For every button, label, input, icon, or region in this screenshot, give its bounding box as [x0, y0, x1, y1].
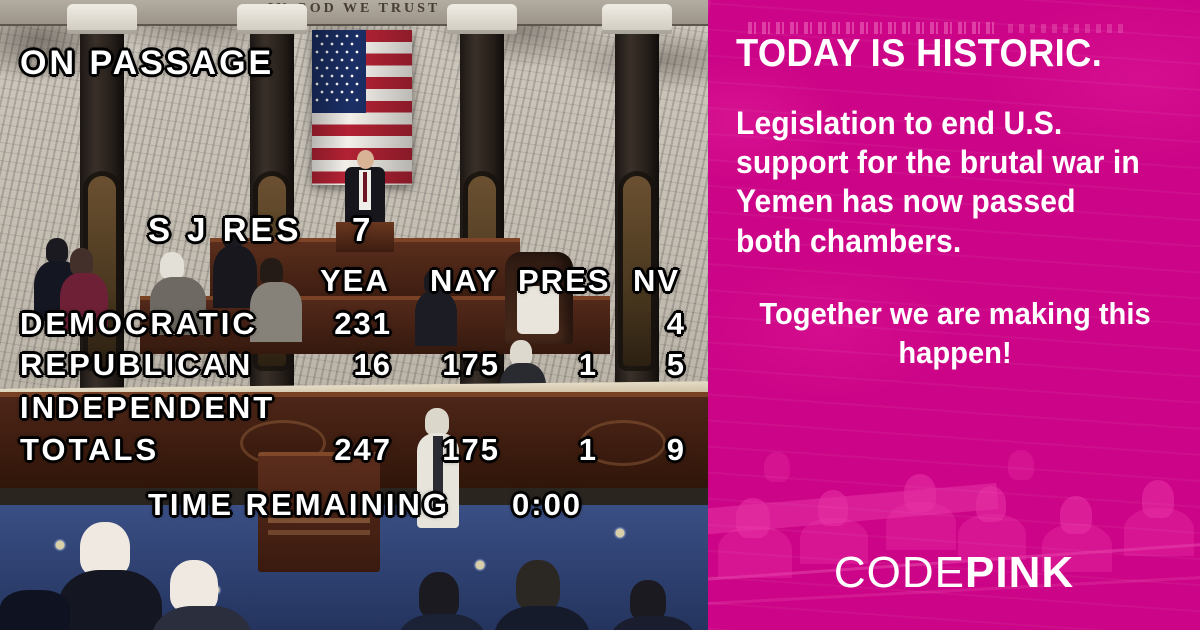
bill-label: S J RES [148, 211, 303, 249]
column-header-nv: NV [633, 263, 680, 299]
cell-totals-nay: 175 [404, 432, 500, 468]
social-graphic: IN GOD WE TRUST [0, 0, 1200, 630]
panel-body-text: Legislation to end U.S. support for the … [736, 104, 1148, 261]
cell-totals-yea: 247 [296, 432, 392, 468]
row-label-republican: REPUBLICAN [20, 347, 253, 383]
row-label-democratic: DEMOCRATIC [20, 306, 258, 342]
row-label-independent: INDEPENDENT [20, 390, 275, 426]
vote-question-label: ON PASSAGE [20, 44, 274, 83]
logo-code-text: CODE [834, 548, 965, 597]
cell-democratic-yea: 231 [296, 306, 392, 342]
time-remaining-value: 0:00 [512, 487, 582, 523]
house-floor-photo: IN GOD WE TRUST [0, 0, 708, 630]
column-header-yea: YEA [320, 263, 390, 299]
time-remaining-label: TIME REMAINING [148, 487, 450, 523]
bill-number: 7 [352, 211, 372, 249]
column-header-nay: NAY [430, 263, 499, 299]
cell-republican-nv: 5 [600, 347, 686, 383]
column-header-pres: PRES [518, 263, 610, 299]
logo-pink-text: PINK [965, 548, 1074, 597]
codepink-logo: CODEPINK [708, 548, 1200, 598]
cell-democratic-nv: 4 [600, 306, 686, 342]
ghost-crowd-overlay [708, 440, 1200, 630]
cell-totals-pres: 1 [500, 432, 598, 468]
panel-headline: TODAY IS HISTORIC. [736, 34, 1143, 74]
message-panel: TODAY IS HISTORIC. Legislation to end U.… [708, 0, 1200, 630]
cell-republican-pres: 1 [500, 347, 598, 383]
cell-republican-nay: 175 [404, 347, 500, 383]
panel-closing-text: Together we are making this happen! [749, 295, 1161, 372]
panel-copy: TODAY IS HISTORIC. Legislation to end U.… [708, 0, 1200, 372]
cell-totals-nv: 9 [600, 432, 686, 468]
cell-republican-yea: 16 [296, 347, 392, 383]
row-label-totals: TOTALS [20, 432, 159, 468]
